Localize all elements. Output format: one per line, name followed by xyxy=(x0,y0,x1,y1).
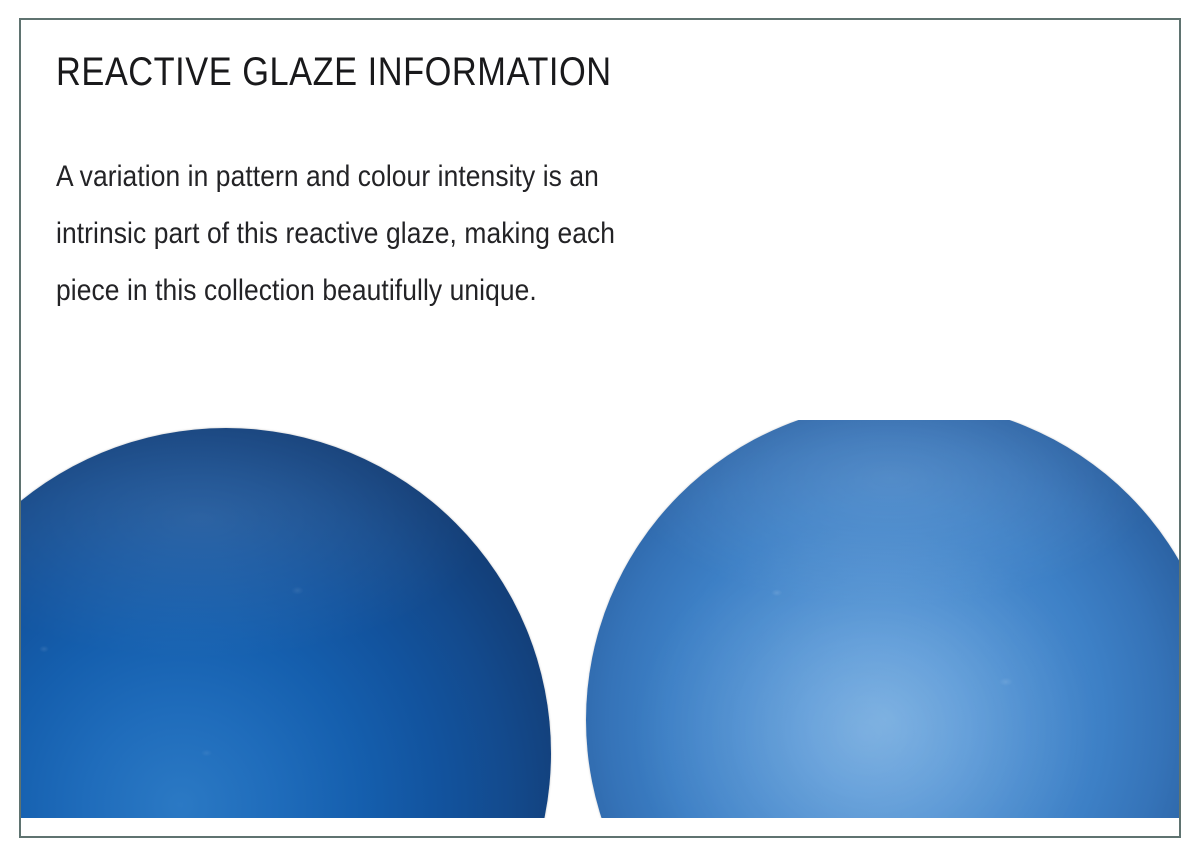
reactive-glaze-info-card: REACTIVE GLAZE INFORMATION A variation i… xyxy=(19,18,1181,838)
photo-bottom-crop xyxy=(21,818,1179,829)
text-block: REACTIVE GLAZE INFORMATION A variation i… xyxy=(56,48,1056,319)
body-paragraph: A variation in pattern and colour intens… xyxy=(56,96,751,319)
right-plate-image xyxy=(586,420,1179,829)
left-plate-image xyxy=(21,428,551,829)
plate-photo xyxy=(21,420,1179,829)
page-title: REACTIVE GLAZE INFORMATION xyxy=(56,48,916,96)
